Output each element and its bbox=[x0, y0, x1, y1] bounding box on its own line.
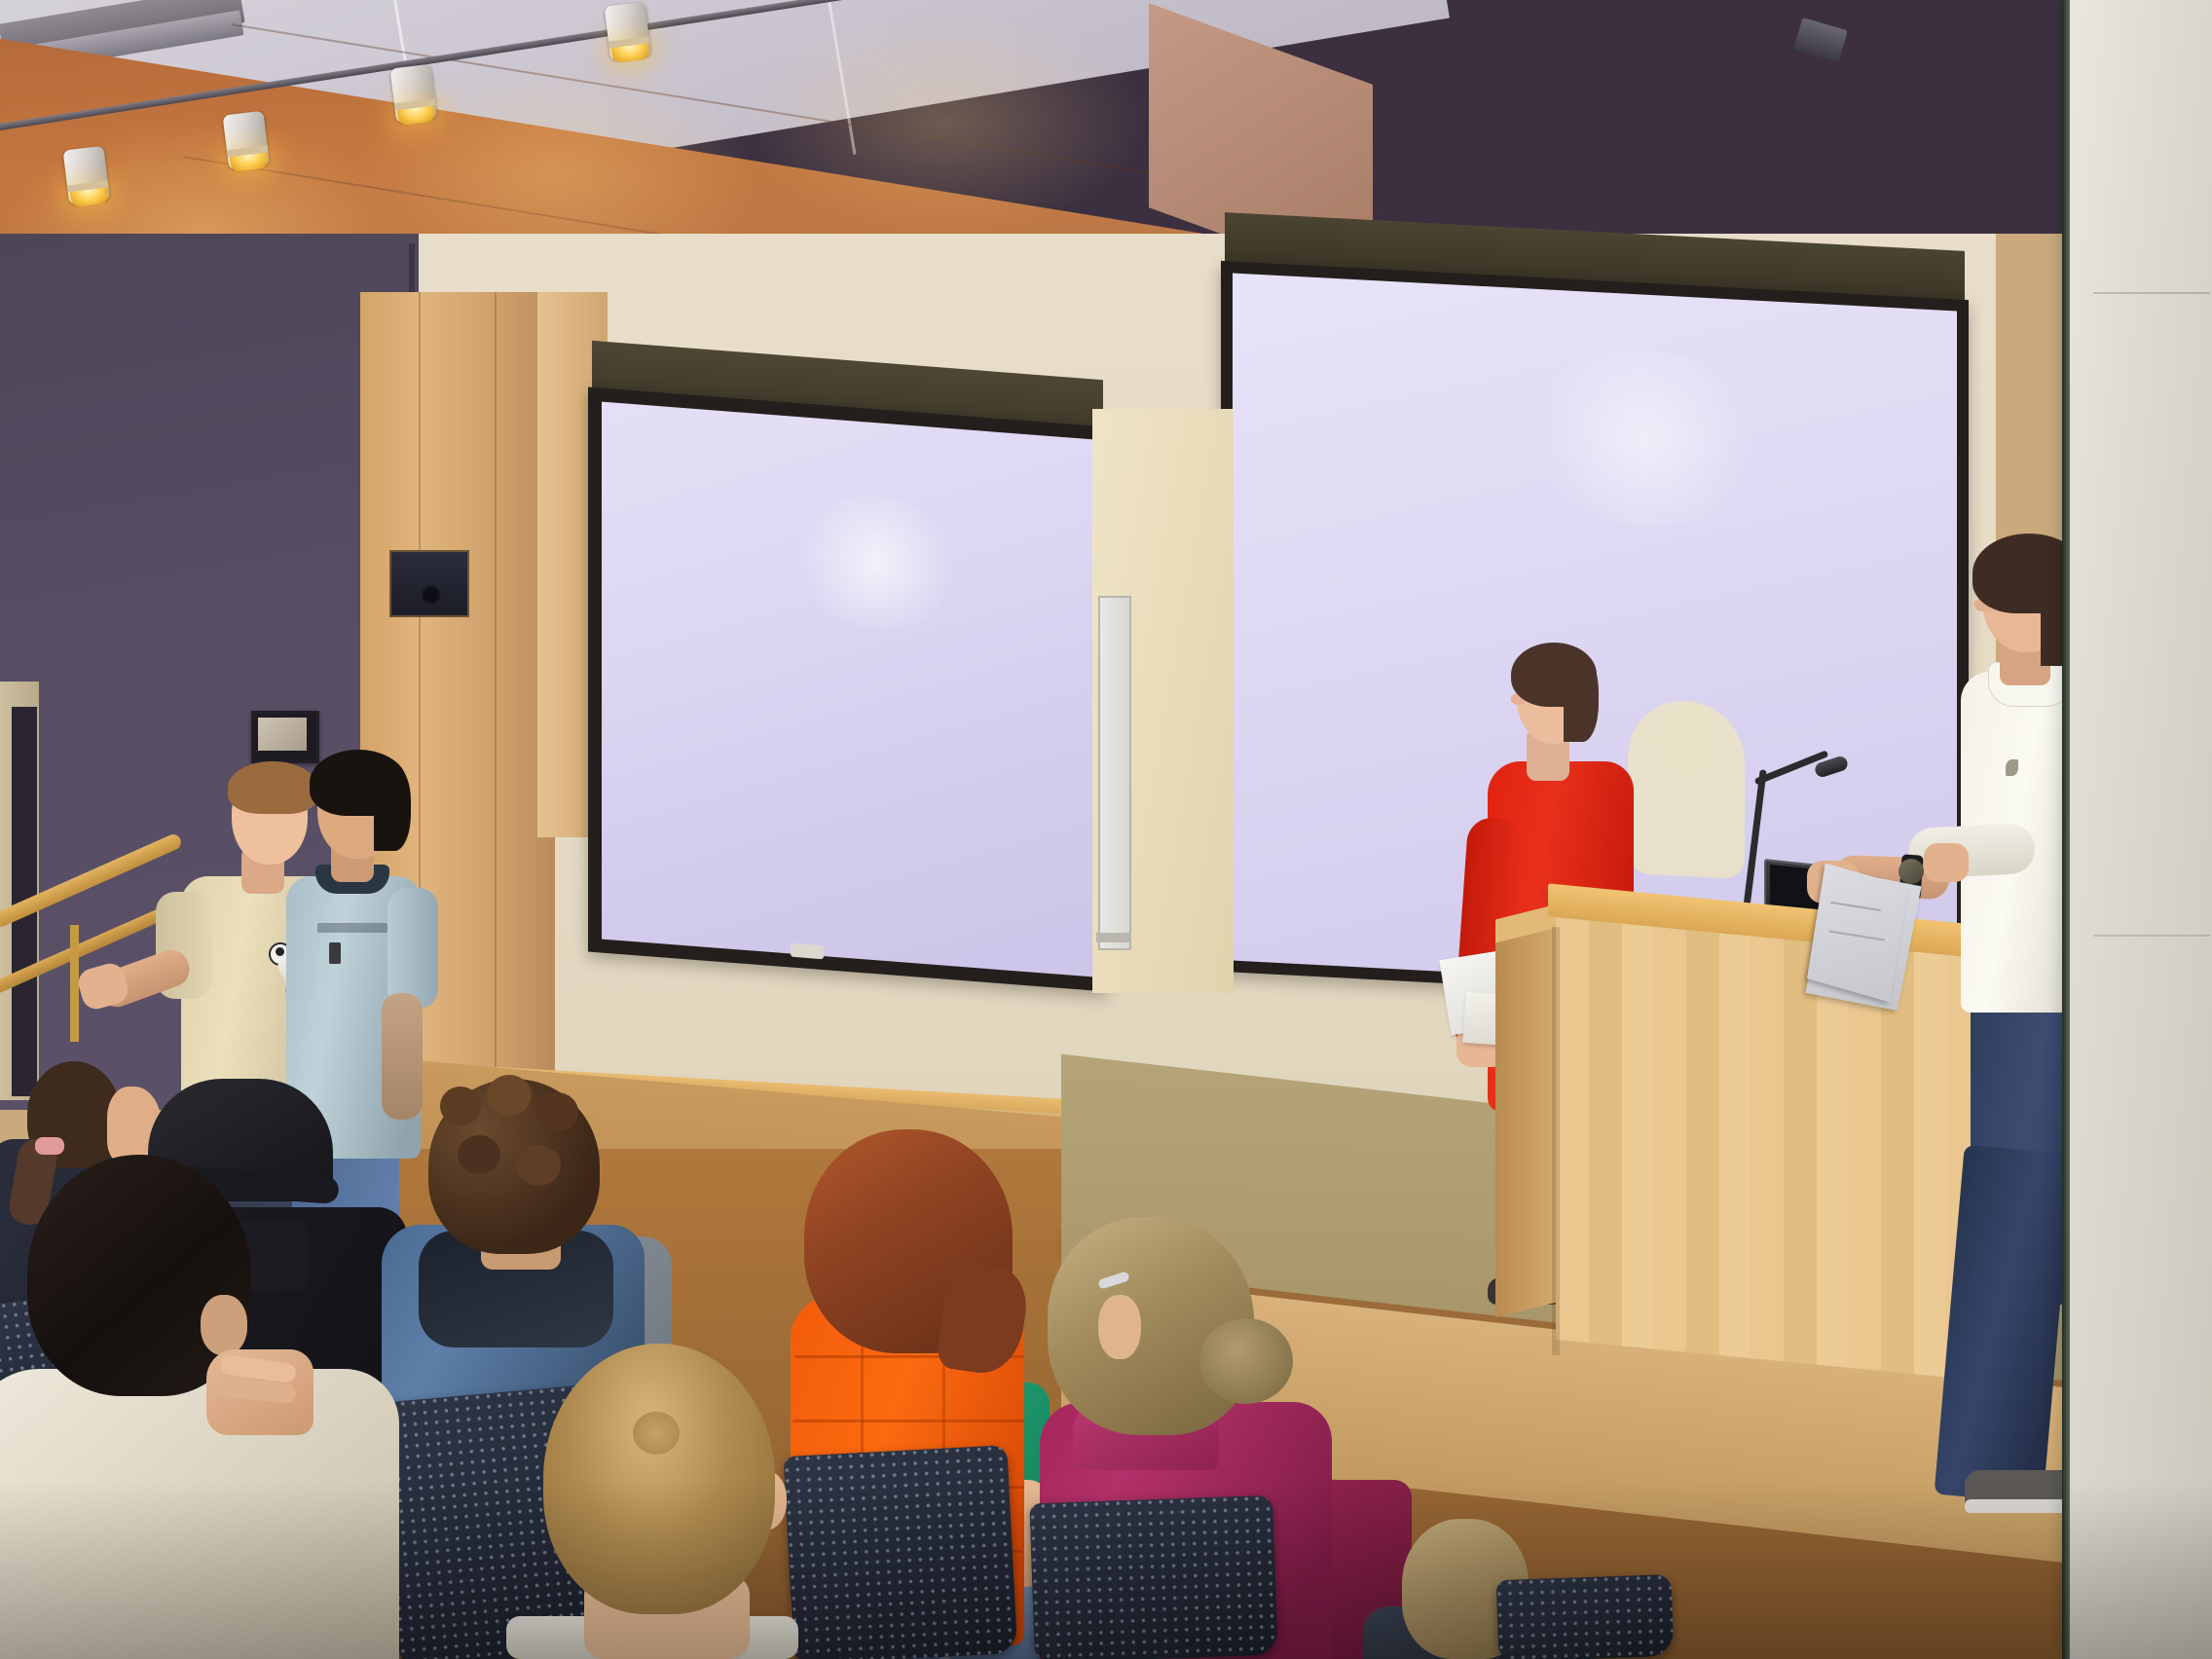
whiteboard[interactable] bbox=[1098, 596, 1131, 950]
hair-bun bbox=[1199, 1318, 1293, 1404]
cream-jacket-man-ear bbox=[201, 1295, 247, 1355]
pillar-seam bbox=[2093, 292, 2210, 294]
tan-man-hair bbox=[228, 761, 317, 814]
polo-chest-logo bbox=[2006, 759, 2018, 776]
left-projection-screen[interactable] bbox=[602, 402, 1093, 977]
light-glow bbox=[740, 10, 1149, 234]
bun-woman-ear bbox=[1098, 1295, 1141, 1359]
track-spotlight-icon bbox=[605, 2, 652, 64]
concrete-pillar bbox=[2068, 0, 2212, 1659]
hair-curl bbox=[535, 1092, 578, 1131]
wristwatch-face-icon bbox=[1899, 859, 1924, 884]
blue-man-hair-back bbox=[374, 767, 411, 851]
wood-panel-seam bbox=[495, 292, 497, 1149]
tshirt-graphic-text bbox=[317, 923, 387, 933]
lectern-paper bbox=[1807, 864, 1908, 1003]
hair-curl bbox=[458, 1135, 500, 1174]
framed-picture-mat bbox=[258, 718, 307, 751]
lectern-edge bbox=[1552, 927, 1560, 1356]
photo-vignette bbox=[0, 1480, 2212, 1659]
blue-man-arm bbox=[382, 993, 423, 1120]
hair-curl bbox=[516, 1145, 561, 1186]
presenter-hair-back bbox=[1564, 658, 1599, 742]
projector-lens-icon bbox=[421, 584, 442, 606]
blue-man-sleeve bbox=[387, 888, 438, 1009]
polo-man-other-hand bbox=[1924, 843, 1969, 882]
lectern-front-panel bbox=[1556, 911, 2004, 1382]
track-spotlight-icon bbox=[223, 111, 271, 173]
lectern-side-panel bbox=[1495, 912, 1560, 1317]
screen-weight-bar bbox=[791, 943, 824, 960]
hair-curl bbox=[440, 1087, 481, 1125]
hair-whorl bbox=[633, 1412, 680, 1455]
tshirt-pocket-item bbox=[329, 942, 341, 964]
whiteboard-marker-tray bbox=[1096, 933, 1131, 942]
presenter-shadow-head bbox=[1650, 703, 1722, 779]
hair-tie bbox=[35, 1137, 64, 1155]
pillar-edge bbox=[2062, 0, 2070, 1659]
track-spotlight-icon bbox=[390, 64, 438, 127]
track-spotlight-icon bbox=[63, 146, 111, 208]
lecture-hall-photo bbox=[0, 0, 2212, 1659]
hair-curl bbox=[487, 1075, 532, 1116]
tshirt-logo-dot bbox=[276, 947, 284, 956]
pillar-seam bbox=[2093, 935, 2210, 937]
